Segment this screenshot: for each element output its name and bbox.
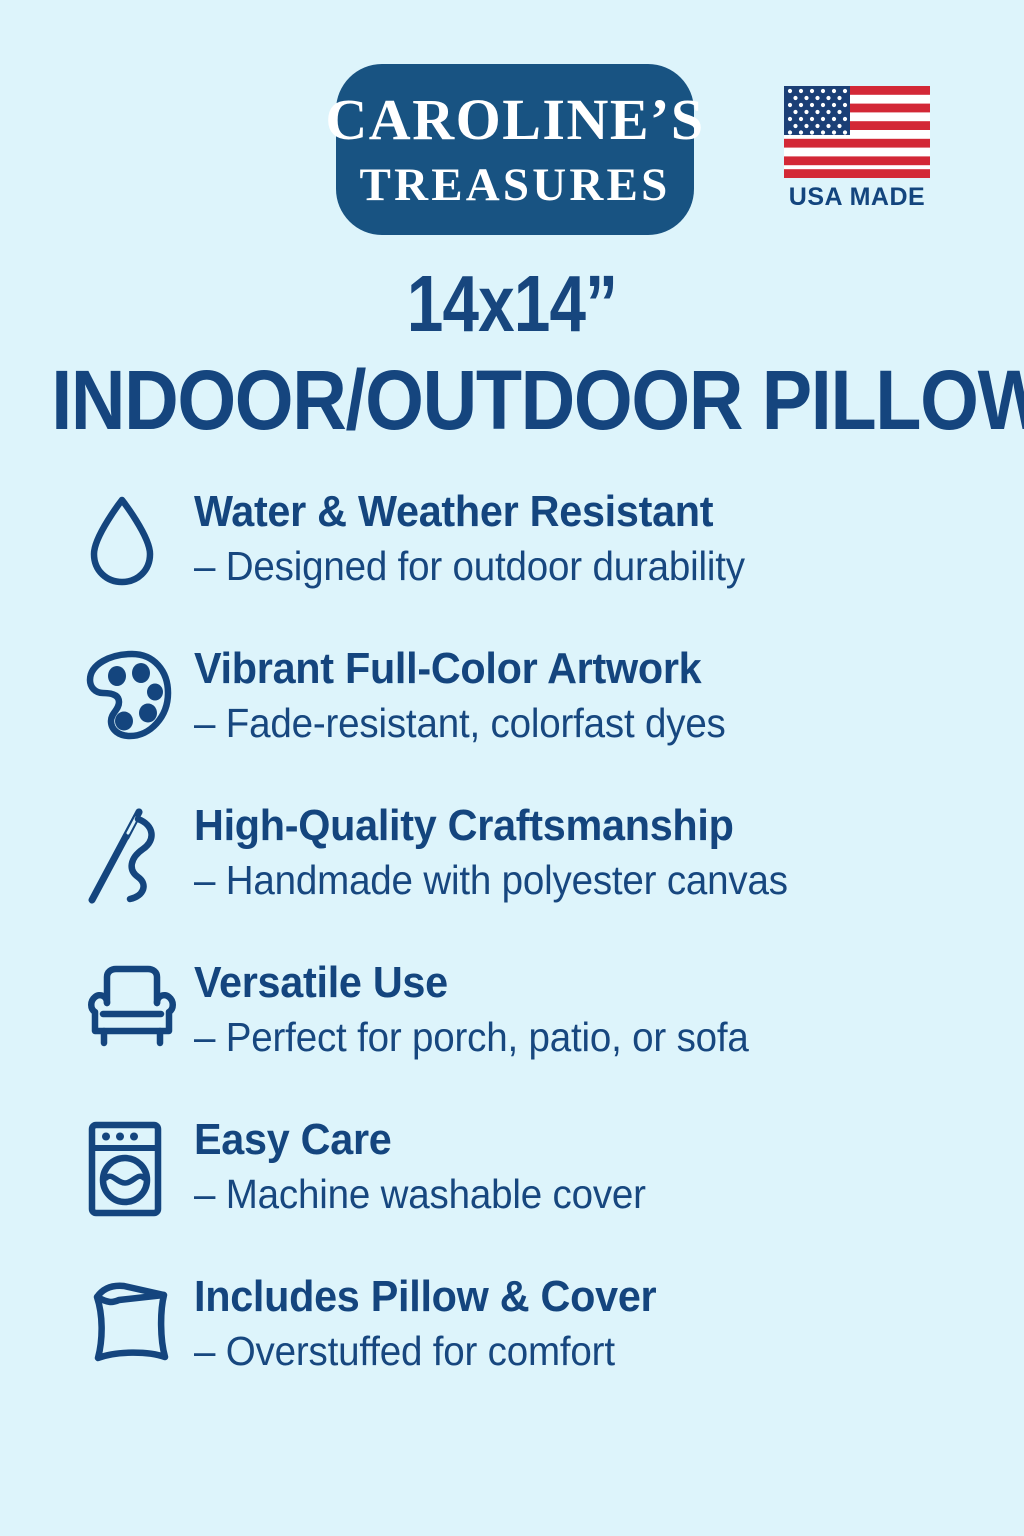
- feature-subtitle: – Designed for outdoor durability: [194, 543, 745, 590]
- brand-name-line1: CAROLINE’S: [325, 91, 704, 149]
- feature-text: Vibrant Full-Color Artwork – Fade-resist…: [182, 643, 760, 747]
- feature-row: Easy Care – Machine washable cover: [86, 1114, 1024, 1271]
- feature-text: High-Quality Craftsmanship – Handmade wi…: [182, 800, 826, 904]
- feature-row: Versatile Use – Perfect for porch, patio…: [86, 957, 1024, 1114]
- feature-subtitle: – Handmade with polyester canvas: [194, 857, 788, 904]
- feature-text: Easy Care – Machine washable cover: [182, 1114, 675, 1218]
- feature-subtitle: – Machine washable cover: [194, 1171, 646, 1218]
- product-size: 14x14”: [92, 264, 932, 344]
- header: CAROLINE’S TREASURES: [0, 0, 1024, 250]
- usa-flag-icon: [784, 86, 930, 178]
- feature-title: Versatile Use: [194, 959, 749, 1007]
- feature-title: Water & Weather Resistant: [194, 488, 745, 536]
- paint-palette-icon: [86, 643, 182, 741]
- washing-machine-icon: [86, 1114, 182, 1218]
- water-drop-icon: [86, 486, 182, 588]
- title-block: 14x14” INDOOR/OUTDOOR PILLOW: [0, 264, 1024, 442]
- feature-text: Includes Pillow & Cover – Overstuffed fo…: [182, 1271, 686, 1375]
- brand-name-line2: TREASURES: [360, 162, 671, 209]
- usa-made-label: USA MADE: [789, 185, 925, 210]
- feature-title: Easy Care: [194, 1116, 646, 1164]
- feature-subtitle: – Overstuffed for comfort: [194, 1328, 656, 1375]
- feature-list: Water & Weather Resistant – Designed for…: [0, 486, 1024, 1428]
- pillow-icon: [86, 1271, 182, 1369]
- feature-title: Vibrant Full-Color Artwork: [194, 645, 726, 693]
- feature-text: Versatile Use – Perfect for porch, patio…: [182, 957, 784, 1061]
- feature-text: Water & Weather Resistant – Designed for…: [182, 486, 780, 590]
- usa-made-badge: USA MADE: [784, 86, 930, 218]
- feature-row: High-Quality Craftsmanship – Handmade wi…: [86, 800, 1024, 957]
- brand-logo-badge: CAROLINE’S TREASURES: [336, 64, 694, 235]
- needle-thread-icon: [86, 800, 182, 906]
- feature-row: Water & Weather Resistant – Designed for…: [86, 486, 1024, 643]
- armchair-icon: [86, 957, 182, 1049]
- feature-row: Vibrant Full-Color Artwork – Fade-resist…: [86, 643, 1024, 800]
- feature-title: High-Quality Craftsmanship: [194, 802, 788, 850]
- feature-title: Includes Pillow & Cover: [194, 1273, 656, 1321]
- product-title: INDOOR/OUTDOOR PILLOW: [51, 358, 973, 442]
- feature-subtitle: – Fade-resistant, colorfast dyes: [194, 700, 726, 747]
- infographic-page: CAROLINE’S TREASURES: [0, 0, 1024, 1536]
- feature-row: Includes Pillow & Cover – Overstuffed fo…: [86, 1271, 1024, 1428]
- feature-subtitle: – Perfect for porch, patio, or sofa: [194, 1014, 749, 1061]
